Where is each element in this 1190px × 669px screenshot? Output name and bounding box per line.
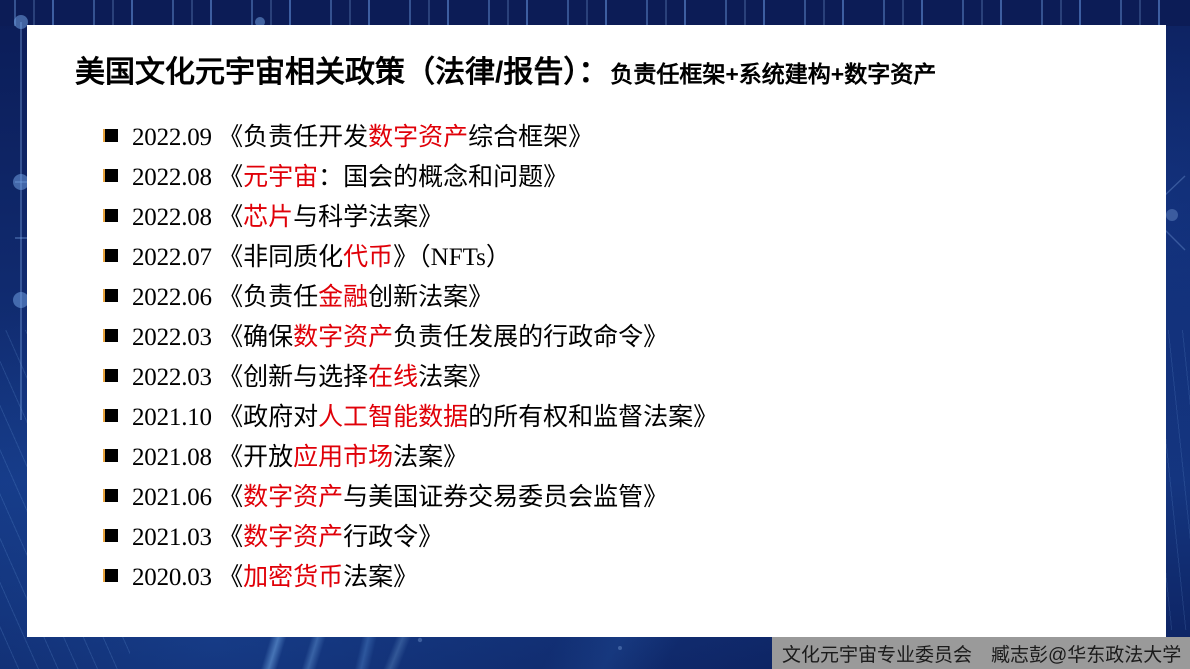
- highlighted-term: 加密货币: [243, 564, 343, 591]
- policy-list: 2022.09 《负责任开发数字资产综合框架》2022.08 《元宇宙：国会的概…: [103, 125, 1143, 605]
- list-item-text: 2021.08 《开放应用市场法案》: [132, 445, 468, 470]
- highlighted-term: 数字资产: [243, 484, 343, 511]
- highlighted-term: 应用市场: [293, 444, 393, 471]
- highlighted-term: 元宇宙: [243, 164, 318, 191]
- list-item: 2022.09 《负责任开发数字资产综合框架》: [103, 125, 1143, 165]
- page-title-main: 美国文化元宇宙相关政策（法律/报告）：: [75, 56, 608, 89]
- square-bullet-icon: [103, 569, 118, 582]
- list-item-date: 2021.03: [132, 524, 212, 551]
- list-item: 2022.03 《创新与选择在线法案》: [103, 365, 1143, 405]
- top-bar-pattern: [0, 0, 1190, 26]
- list-item: 2021.10 《政府对人工智能数据的所有权和监督法案》: [103, 405, 1143, 445]
- list-item-date: 2021.08: [132, 444, 212, 471]
- square-bullet-icon: [103, 449, 118, 462]
- list-item-text: 2021.03 《数字资产行政令》: [132, 525, 443, 550]
- list-item-segment: 《: [218, 164, 243, 191]
- list-item: 2022.08 《元宇宙：国会的概念和问题》: [103, 165, 1143, 205]
- list-item-date: 2022.03: [132, 364, 212, 391]
- list-item-segment: 《: [218, 564, 243, 591]
- list-item-segment: 与美国证券交易委员会监管》: [343, 484, 668, 511]
- list-item-date: 2022.07: [132, 244, 212, 271]
- list-item-text: 2020.03 《加密货币法案》: [132, 565, 418, 590]
- list-item-date: 2022.06: [132, 284, 212, 311]
- square-bullet-icon: [103, 369, 118, 382]
- slide-footer: 文化元宇宙专业委员会 臧志彭@华东政法大学: [772, 637, 1190, 669]
- list-item-segment: 《负责任开发: [218, 124, 368, 151]
- highlighted-term: 数字资产: [243, 524, 343, 551]
- list-item: 2021.08 《开放应用市场法案》: [103, 445, 1143, 485]
- list-item-segment: 法案》: [418, 364, 493, 391]
- list-item-segment: 与科学法案》: [293, 204, 443, 231]
- list-item-segment: 《非同质化: [218, 244, 343, 271]
- list-item-date: 2022.08: [132, 164, 212, 191]
- highlighted-term: 数字资产: [368, 124, 468, 151]
- list-item: 2022.03 《确保数字资产负责任发展的行政命令》: [103, 325, 1143, 365]
- page-title-sub: 负责任框架+系统建构+数字资产: [608, 61, 936, 87]
- list-item: 2022.08 《芯片与科学法案》: [103, 205, 1143, 245]
- list-item-date: 2022.09: [132, 124, 212, 151]
- list-item-date: 2022.08: [132, 204, 212, 231]
- list-item-segment: 《: [218, 484, 243, 511]
- list-item-segment: 法案》: [343, 564, 418, 591]
- square-bullet-icon: [103, 329, 118, 342]
- list-item-date: 2021.10: [132, 404, 212, 431]
- list-item-text: 2022.03 《确保数字资产负责任发展的行政命令》: [132, 325, 668, 350]
- square-bullet-icon: [103, 209, 118, 222]
- list-item-date: 2022.03: [132, 324, 212, 351]
- list-item-text: 2022.09 《负责任开发数字资产综合框架》: [132, 125, 593, 150]
- square-bullet-icon: [103, 129, 118, 142]
- list-item-segment: 负责任发展的行政命令》: [393, 324, 668, 351]
- highlighted-term: 芯片: [243, 204, 293, 231]
- square-bullet-icon: [103, 529, 118, 542]
- list-item-segment: ：国会的概念和问题》: [318, 164, 568, 191]
- list-item: 2021.03 《数字资产行政令》: [103, 525, 1143, 565]
- square-bullet-icon: [103, 489, 118, 502]
- highlighted-term: 代币: [343, 244, 393, 271]
- list-item-segment: 《: [218, 204, 243, 231]
- list-item-date: 2021.06: [132, 484, 212, 511]
- page-title: 美国文化元宇宙相关政策（法律/报告）：负责任框架+系统建构+数字资产: [75, 47, 936, 91]
- list-item: 2021.06 《数字资产与美国证券交易委员会监管》: [103, 485, 1143, 525]
- list-item-text: 2021.06 《数字资产与美国证券交易委员会监管》: [132, 485, 668, 510]
- list-item-date: 2020.03: [132, 564, 212, 591]
- square-bullet-icon: [103, 289, 118, 302]
- list-item-segment: 行政令》: [343, 524, 443, 551]
- list-item-segment: 综合框架》: [468, 124, 593, 151]
- square-bullet-icon: [103, 169, 118, 182]
- square-bullet-icon: [103, 249, 118, 262]
- highlighted-term: 金融: [318, 284, 368, 311]
- list-item-text: 2022.08 《芯片与科学法案》: [132, 205, 443, 230]
- list-item-text: 2022.08 《元宇宙：国会的概念和问题》: [132, 165, 568, 190]
- list-item-segment: 法案》: [393, 444, 468, 471]
- highlighted-term: 数字资产: [293, 324, 393, 351]
- list-item-segment: 》（NFTs）: [393, 244, 511, 271]
- list-item-segment: 《创新与选择: [218, 364, 368, 391]
- list-item-segment: 《开放: [218, 444, 293, 471]
- list-item-text: 2022.07 《非同质化代币》（NFTs）: [132, 245, 511, 270]
- footer-text: 文化元宇宙专业委员会 臧志彭@华东政法大学: [782, 640, 1181, 667]
- square-bullet-icon: [103, 409, 118, 422]
- content-panel: 美国文化元宇宙相关政策（法律/报告）：负责任框架+系统建构+数字资产 2022.…: [27, 25, 1166, 637]
- list-item-segment: 《确保: [218, 324, 293, 351]
- list-item: 2022.07 《非同质化代币》（NFTs）: [103, 245, 1143, 285]
- list-item-text: 2022.06 《负责任金融创新法案》: [132, 285, 493, 310]
- list-item-segment: 《: [218, 524, 243, 551]
- list-item-segment: 创新法案》: [368, 284, 493, 311]
- list-item: 2020.03 《加密货币法案》: [103, 565, 1143, 605]
- highlighted-term: 人工智能数据: [318, 404, 468, 431]
- presentation-slide: 美国文化元宇宙相关政策（法律/报告）：负责任框架+系统建构+数字资产 2022.…: [0, 0, 1190, 669]
- list-item-segment: 的所有权和监督法案》: [468, 404, 718, 431]
- list-item-segment: 《负责任: [218, 284, 318, 311]
- list-item-text: 2021.10 《政府对人工智能数据的所有权和监督法案》: [132, 405, 718, 430]
- list-item-segment: 《政府对: [218, 404, 318, 431]
- highlighted-term: 在线: [368, 364, 418, 391]
- list-item-text: 2022.03 《创新与选择在线法案》: [132, 365, 493, 390]
- list-item: 2022.06 《负责任金融创新法案》: [103, 285, 1143, 325]
